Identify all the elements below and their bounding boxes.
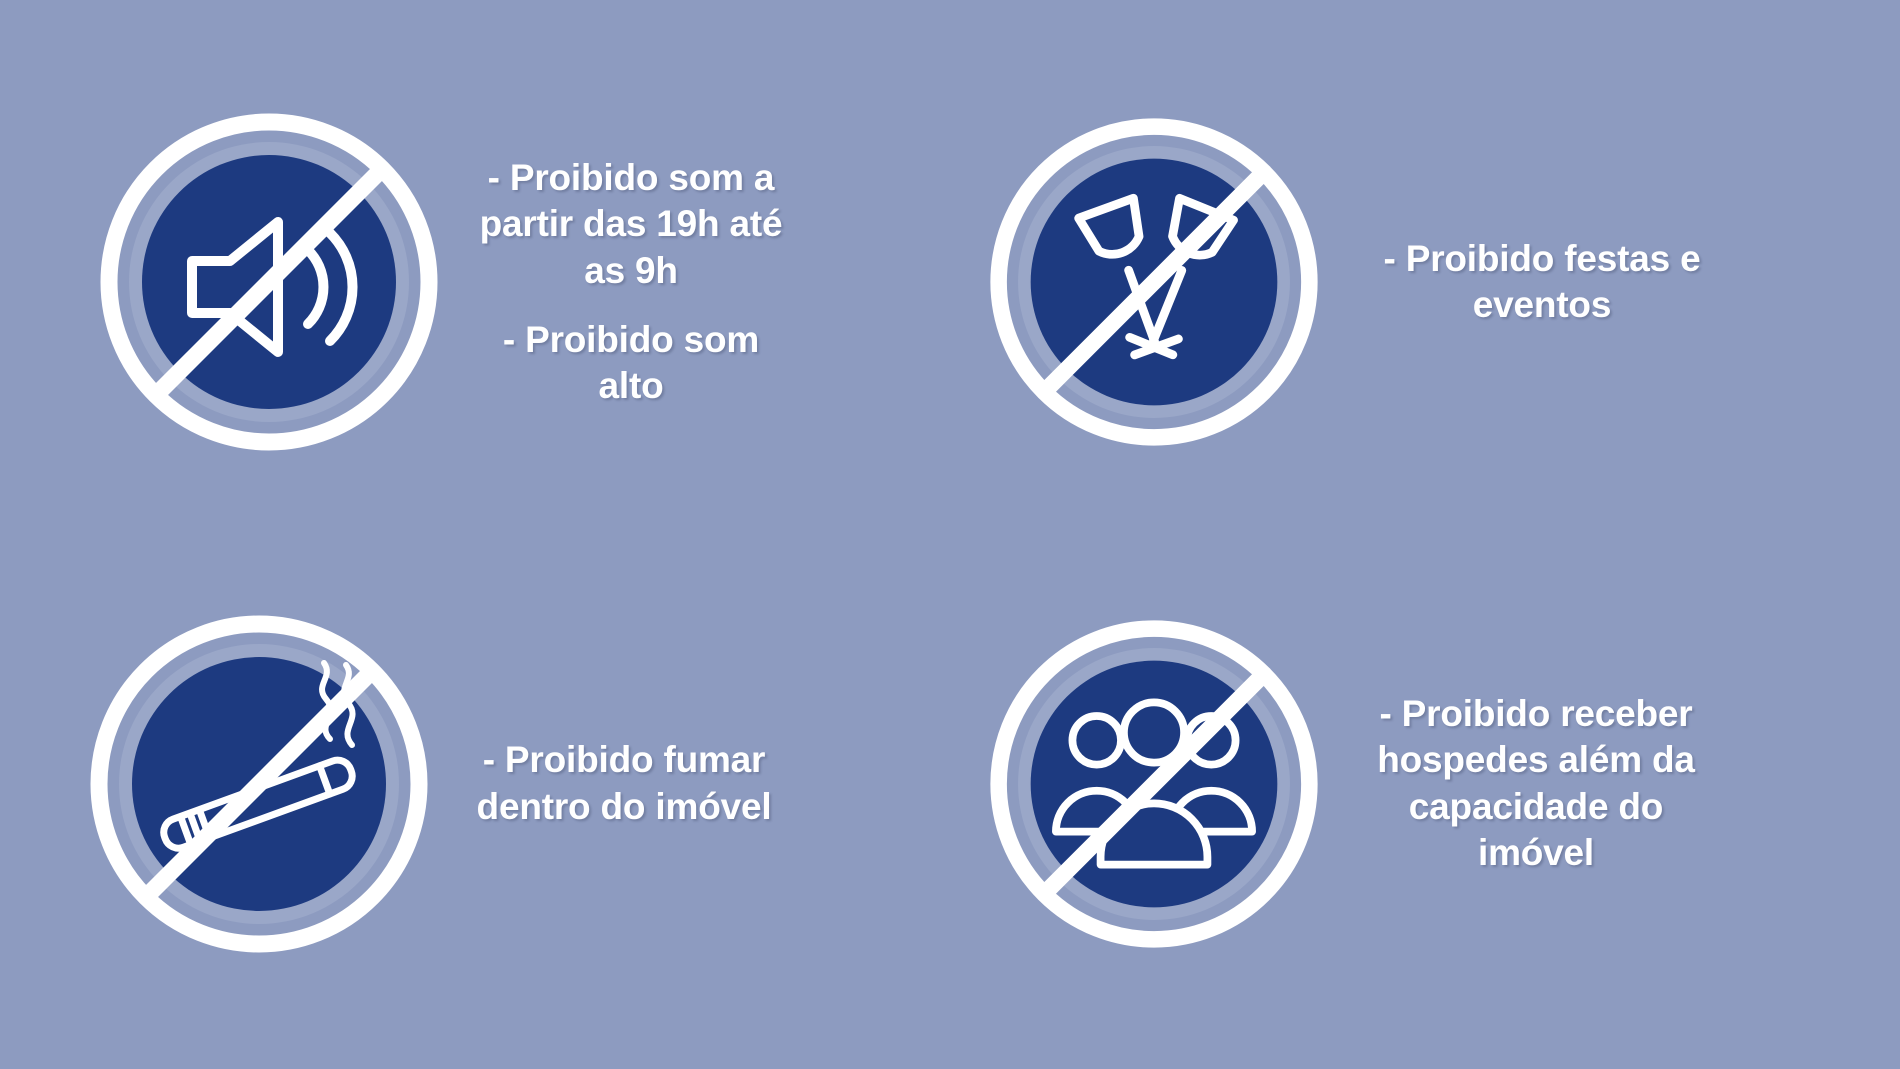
- rule-line: - Proibido receber hospedes além da capa…: [1356, 691, 1716, 877]
- prohibition-sign-no-loud-sound: [96, 109, 442, 455]
- rule-caption-no-parties: - Proibido festas e eventos: [1322, 236, 1762, 329]
- prohibition-sign-no-parties: [986, 114, 1322, 450]
- rule-line: - Proibido som a partir das 19h até as 9…: [466, 155, 796, 295]
- rule-card-no-loud-sound: - Proibido som a partir das 19h até as 9…: [0, 0, 950, 535]
- rules-board: - Proibido som a partir das 19h até as 9…: [0, 0, 1900, 1069]
- rule-caption-no-smoking: - Proibido fumar dentro do imóvel: [432, 737, 820, 830]
- rule-card-no-extra-guests: - Proibido receber hospedes além da capa…: [950, 535, 1900, 1069]
- rule-line: - Proibido fumar dentro do imóvel: [454, 737, 794, 830]
- rule-caption-no-loud-sound: - Proibido som a partir das 19h até as 9…: [442, 155, 822, 410]
- rule-line: - Proibido festas e eventos: [1362, 236, 1722, 329]
- prohibition-sign-no-smoking: [86, 611, 432, 957]
- rule-line: - Proibido som alto: [466, 317, 796, 410]
- rule-card-no-smoking: - Proibido fumar dentro do imóvel: [0, 535, 950, 1069]
- rules-grid: - Proibido som a partir das 19h até as 9…: [0, 0, 1900, 1069]
- rule-card-no-parties: - Proibido festas e eventos: [950, 0, 1900, 535]
- rule-caption-no-extra-guests: - Proibido receber hospedes além da capa…: [1322, 691, 1756, 877]
- prohibition-sign-no-extra-guests: [986, 616, 1322, 952]
